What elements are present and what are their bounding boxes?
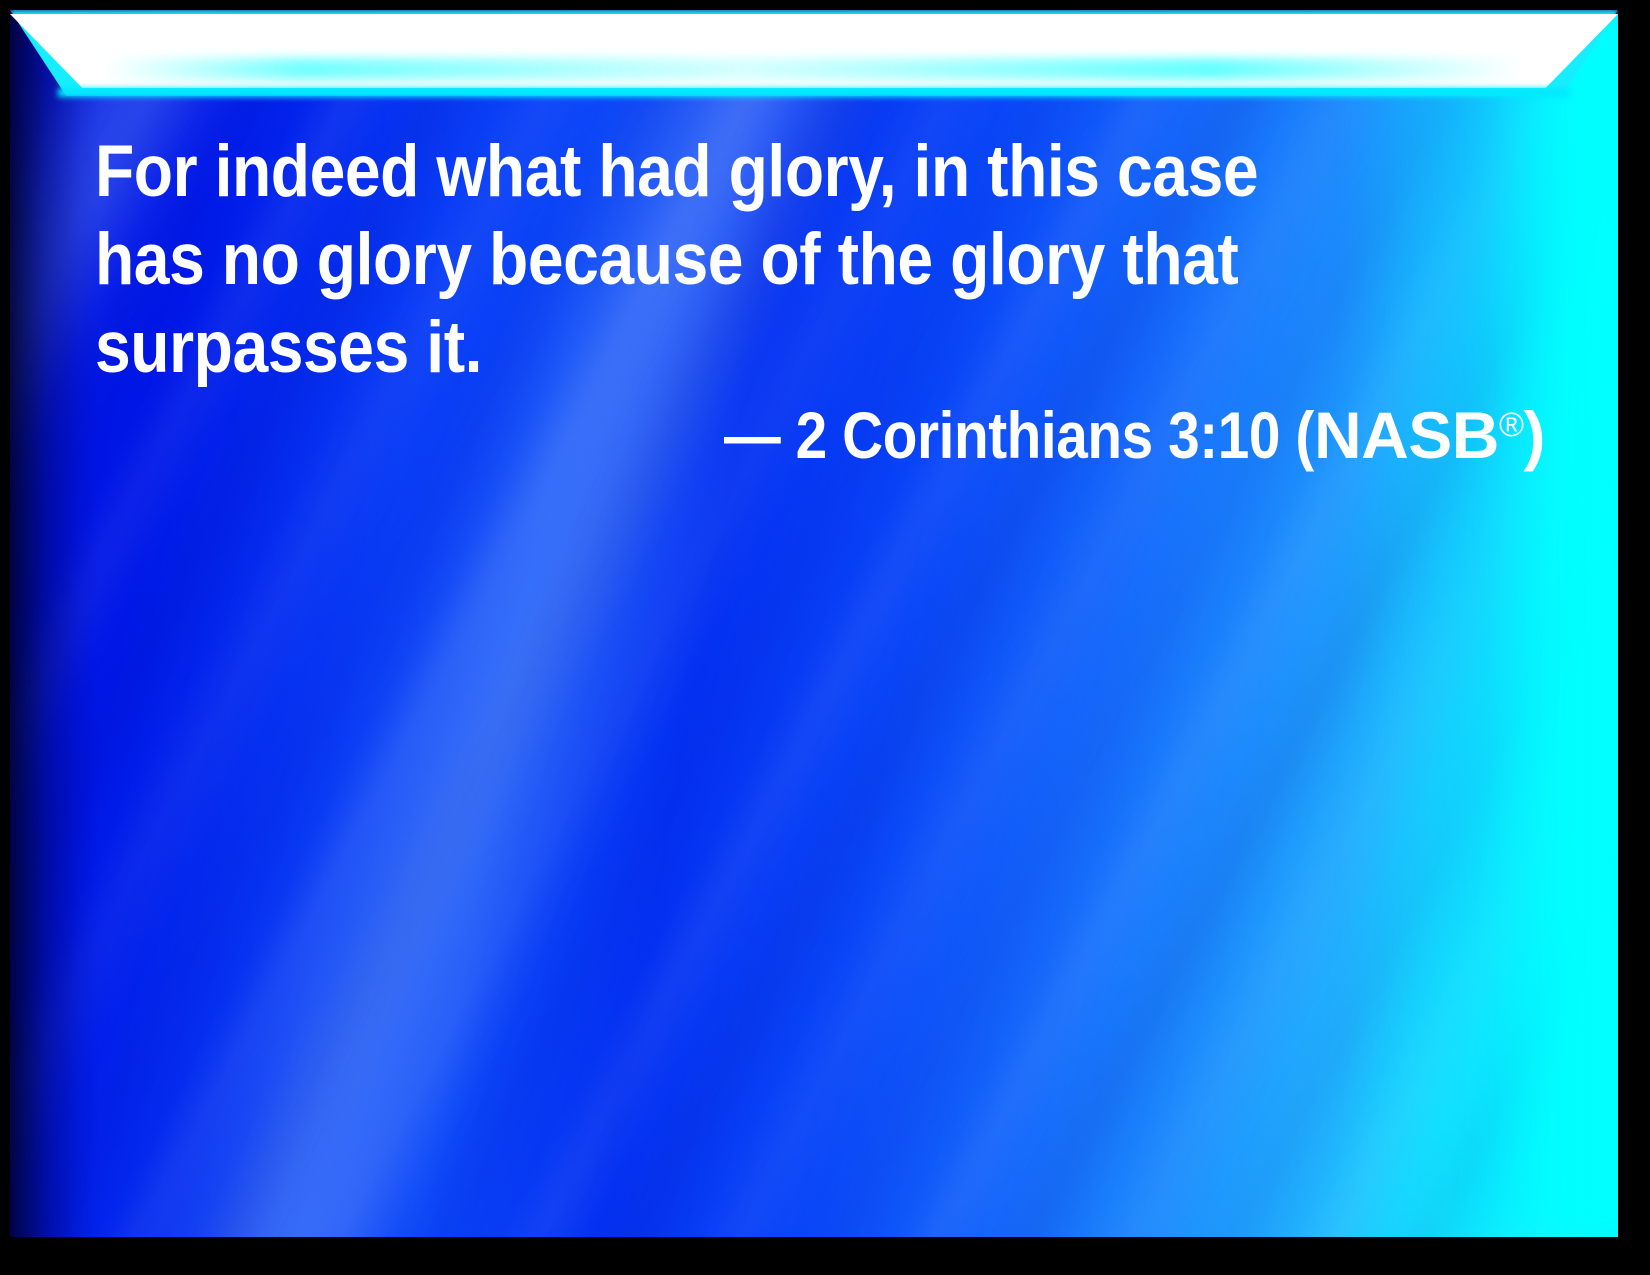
registered-trademark-icon: ® [1499,406,1524,444]
slide-frame: For indeed what had glory, in this case … [0,0,1650,1275]
attribution-translation: NASB [1314,395,1499,475]
attribution-reference: — 2 Corinthians 3:10 ( [724,395,1314,475]
verse-text-block: For indeed what had glory, in this case … [95,128,1555,392]
background-left-vignette [10,10,100,1237]
verse-attribution: — 2 Corinthians 3:10 (NASB®) [95,385,1555,475]
verse-line-3: surpasses it. [95,304,1380,392]
slide-canvas: For indeed what had glory, in this case … [10,10,1618,1237]
attribution-text: — 2 Corinthians 3:10 (NASB®) [628,385,1545,475]
verse-line-1: For indeed what had glory, in this case [95,128,1380,216]
attribution-close-paren: ) [1524,395,1545,475]
verse-line-2: has no glory because of the glory that [95,216,1380,304]
